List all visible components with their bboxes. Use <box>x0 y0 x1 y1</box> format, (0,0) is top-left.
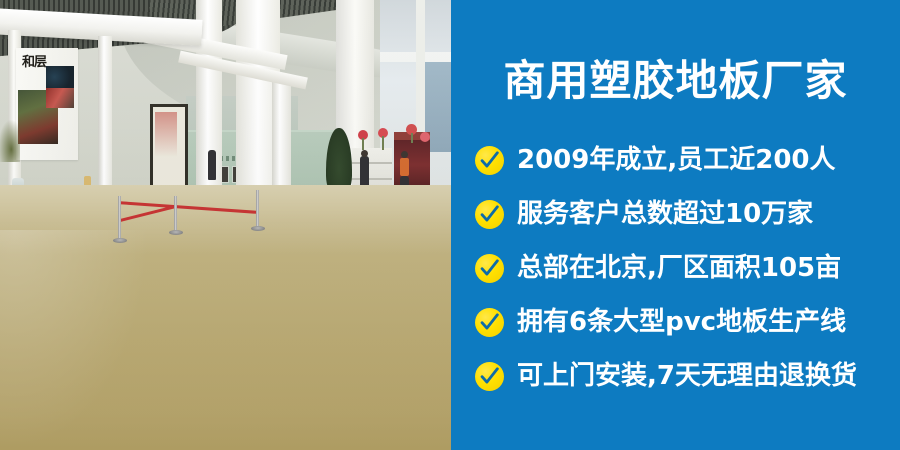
person-silhouette-3 <box>208 150 216 180</box>
poster-image-2 <box>46 88 74 108</box>
flower-stem-2 <box>382 136 384 150</box>
flower-stem-3 <box>411 133 413 143</box>
list-item-label: 服务客户总数超过10万家 <box>517 199 813 229</box>
stanchion-base-1 <box>113 238 127 243</box>
promo-banner: 和层 商用塑胶地板厂家 <box>0 0 900 450</box>
stanchion-base-3 <box>251 226 265 231</box>
plant-left <box>0 120 20 162</box>
floor-highlight <box>0 230 150 450</box>
feature-list: 2009年成立,员工近200人 服务客户总数超过10万家 <box>475 133 892 403</box>
list-item-label: 总部在北京,厂区面积105亩 <box>517 253 841 283</box>
person-head-2 <box>401 151 408 158</box>
check-circle-icon <box>475 254 504 283</box>
shelf-line-2 <box>352 178 392 180</box>
poster-calligraphy: 和层 <box>22 54 48 72</box>
check-circle-icon <box>475 308 504 337</box>
check-circle-icon <box>475 146 504 175</box>
blue-info-panel: 商用塑胶地板厂家 2009年成立,员工近200人 服务 <box>451 0 900 450</box>
person-head-1 <box>361 150 368 157</box>
stanchion-post-2 <box>174 196 177 232</box>
list-item: 服务客户总数超过10万家 <box>475 187 892 241</box>
check-circle-icon <box>475 200 504 229</box>
list-item: 总部在北京,厂区面积105亩 <box>475 241 892 295</box>
list-item-label: 可上门安装,7天无理由退换货 <box>517 361 857 391</box>
check-circle-icon <box>475 362 504 391</box>
stanchion-post-3 <box>256 190 259 228</box>
poster-image-1 <box>46 66 74 88</box>
flower-stem-1 <box>362 138 364 150</box>
list-item-label: 拥有6条大型pvc地板生产线 <box>517 307 846 337</box>
framed-artwork-image <box>155 112 177 172</box>
showroom-photo: 和层 <box>0 0 451 450</box>
list-item: 2009年成立,员工近200人 <box>475 133 892 187</box>
panel-title: 商用塑胶地板厂家 <box>451 56 900 106</box>
list-item: 拥有6条大型pvc地板生产线 <box>475 295 892 349</box>
person-orange-vest <box>400 158 409 176</box>
stanchion-base-2 <box>169 230 183 235</box>
shelf-line-1 <box>352 162 392 164</box>
flower-4 <box>420 132 430 142</box>
list-item-label: 2009年成立,员工近200人 <box>517 145 836 175</box>
stanchion-post-1 <box>118 196 121 240</box>
list-item: 可上门安装,7天无理由退换货 <box>475 349 892 403</box>
